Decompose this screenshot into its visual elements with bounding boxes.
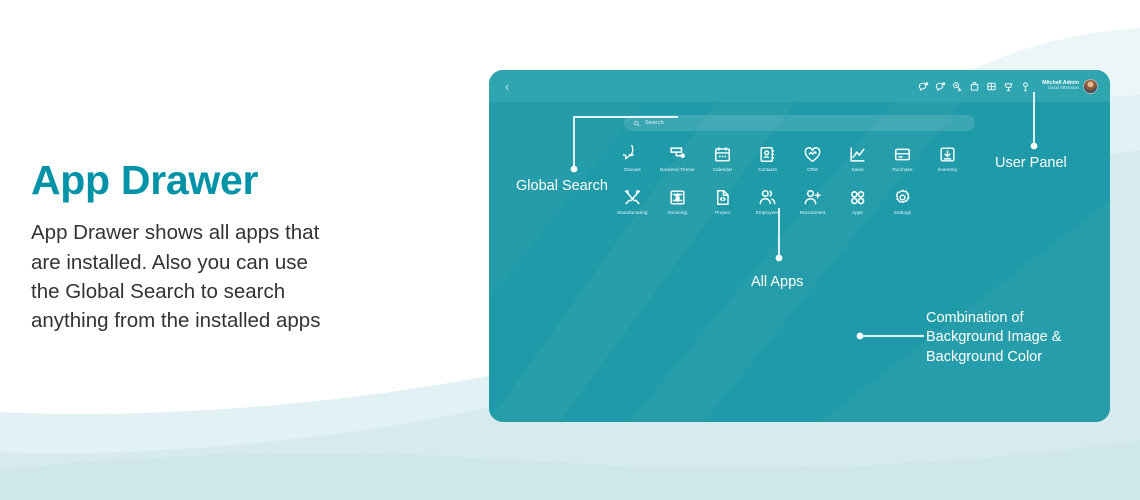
- avatar[interactable]: [1083, 79, 1098, 94]
- apps-dots-icon: [848, 188, 867, 207]
- app-row-2: Manufacturing Invoicing Project: [610, 188, 925, 215]
- employees-icon: [758, 188, 777, 207]
- annotation-label: Combination of Background Image & Backgr…: [926, 309, 1061, 367]
- annotation-label: User Panel: [995, 154, 1067, 173]
- app-calendar[interactable]: Calendar: [700, 145, 745, 172]
- app-label: Invoicing: [668, 210, 687, 215]
- app-label: CRM: [807, 167, 818, 172]
- copy-block: App Drawer App Drawer shows all apps tha…: [31, 158, 431, 336]
- app-manufacturing[interactable]: Manufacturing: [610, 188, 655, 215]
- app-inventory[interactable]: Inventory: [925, 145, 970, 172]
- app-label: Sales: [852, 167, 864, 172]
- app-label: Inventory: [938, 167, 958, 172]
- crm-heart-icon: [803, 145, 822, 164]
- app-project[interactable]: Project: [700, 188, 745, 215]
- background-leader-line: [856, 329, 926, 343]
- activities-icon[interactable]: [952, 81, 963, 92]
- shop-icon[interactable]: [969, 81, 980, 92]
- app-label: Purchase: [892, 167, 912, 172]
- manufacturing-tools-icon: [623, 188, 642, 207]
- recruitment-add-user-icon: [803, 188, 822, 207]
- sales-chart-icon: [848, 145, 867, 164]
- messages-icon[interactable]: [918, 81, 929, 92]
- app-purchase[interactable]: Purchase: [880, 145, 925, 172]
- app-recruitment[interactable]: Recruitment: [790, 188, 835, 215]
- systray: Mitchell Admin Good Afternoon: [918, 79, 1098, 94]
- chevron-left-icon[interactable]: ‹: [501, 78, 513, 95]
- calendar-icon: [713, 145, 732, 164]
- app-apps[interactable]: Apps: [835, 188, 880, 215]
- app-label: Contacts: [758, 167, 777, 172]
- app-contacts[interactable]: Contacts: [745, 145, 790, 172]
- global-search-leader-line: [570, 107, 680, 175]
- app-sales[interactable]: Sales: [835, 145, 880, 172]
- app-label: Manufacturing: [617, 210, 647, 215]
- annotation-label: Global Search: [516, 177, 608, 196]
- app-label: Recruitment: [800, 210, 826, 215]
- conversations-icon[interactable]: [935, 81, 946, 92]
- app-label: Project: [715, 210, 730, 215]
- inventory-box-icon: [938, 145, 957, 164]
- user-greeting: Good Afternoon: [1048, 86, 1079, 91]
- app-settings[interactable]: Settings: [880, 188, 925, 215]
- purchase-card-icon: [893, 145, 912, 164]
- app-crm[interactable]: CRM: [790, 145, 835, 172]
- invoicing-dollar-icon: [668, 188, 687, 207]
- app-label: Calendar: [713, 167, 732, 172]
- app-invoicing[interactable]: Invoicing: [655, 188, 700, 215]
- project-code-icon: [713, 188, 732, 207]
- app-label: Apps: [852, 210, 863, 215]
- settings-gear-icon: [893, 188, 912, 207]
- apps-grid-icon[interactable]: [986, 81, 997, 92]
- page-title: App Drawer: [31, 158, 431, 202]
- panel-topbar: ‹: [489, 70, 1110, 102]
- contacts-icon: [758, 145, 777, 164]
- annotation-label: All Apps: [751, 273, 803, 292]
- app-label: Settings: [894, 210, 911, 215]
- help-icon[interactable]: [1020, 81, 1031, 92]
- all-apps-leader-line: [771, 208, 787, 268]
- user-names: Mitchell Admin Good Afternoon: [1042, 81, 1079, 92]
- user-panel[interactable]: Mitchell Admin Good Afternoon: [1042, 79, 1098, 94]
- page-description: App Drawer shows all apps that are insta…: [31, 218, 431, 335]
- notification-bell-icon[interactable]: [1003, 81, 1014, 92]
- user-panel-leader-line: [1026, 92, 1042, 152]
